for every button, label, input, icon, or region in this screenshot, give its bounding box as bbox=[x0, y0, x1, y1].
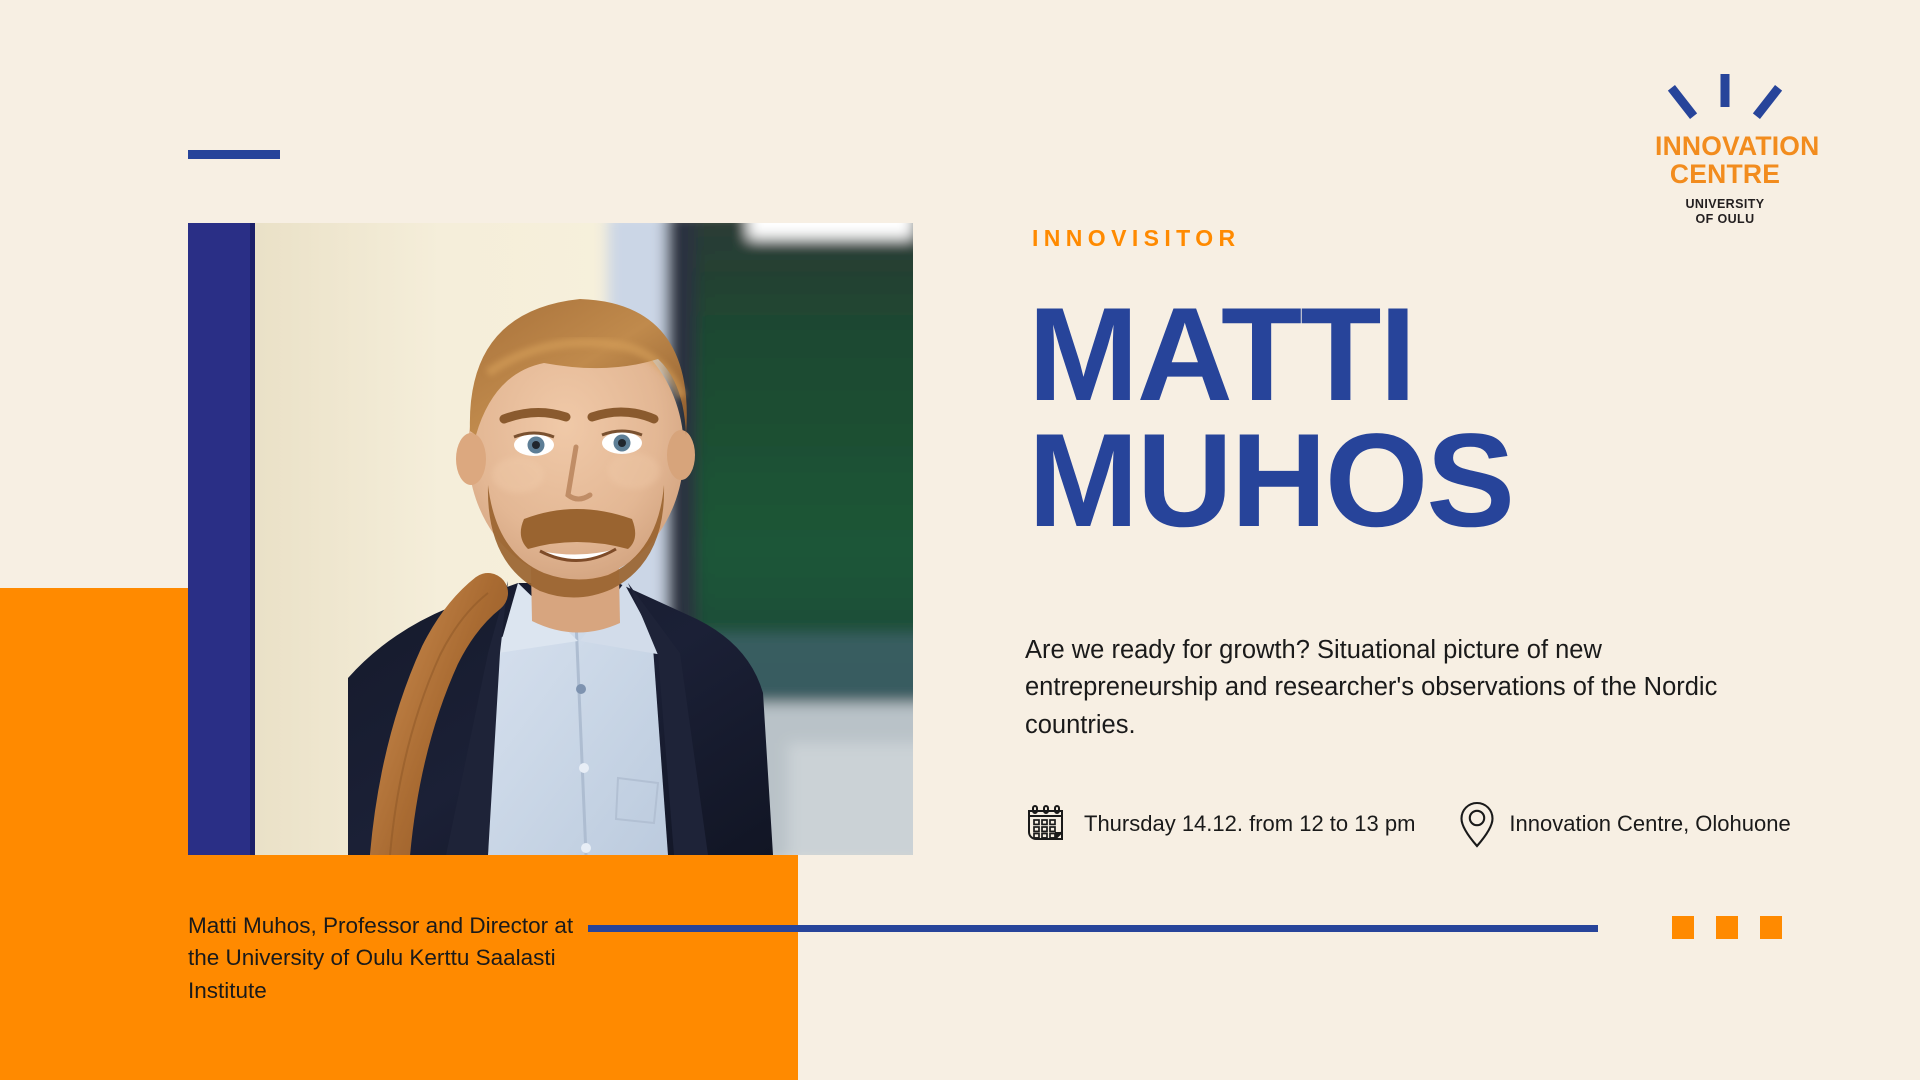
blue-dash-accent bbox=[188, 150, 280, 159]
event-poster: Matti Muhos, Professor and Director at t… bbox=[0, 0, 1920, 1080]
calendar-icon bbox=[1025, 802, 1069, 846]
orange-square bbox=[1760, 916, 1782, 939]
orange-square bbox=[1672, 916, 1694, 939]
location-pin-icon bbox=[1459, 800, 1495, 848]
logo-university-line1: UNIVERSITY bbox=[1685, 197, 1764, 211]
divider-rule bbox=[588, 925, 1598, 932]
event-description: Are we ready for growth? Situational pic… bbox=[1025, 632, 1765, 744]
logo-name-line2: CENTRE bbox=[1670, 159, 1780, 189]
logo-name-line1: INNOVATION bbox=[1655, 131, 1819, 161]
logo-university-line2: OF OULU bbox=[1695, 212, 1754, 226]
kicker-label: INNOVISITOR bbox=[1032, 225, 1241, 252]
meta-datetime-text: Thursday 14.12. from 12 to 13 pm bbox=[1084, 811, 1415, 837]
three-rays-icon bbox=[1655, 72, 1795, 128]
speaker-last-name: MUHOS bbox=[1028, 418, 1828, 544]
speaker-name: MATTI MUHOS bbox=[1028, 292, 1828, 545]
meta-item-location: Innovation Centre, Olohuone bbox=[1459, 800, 1790, 848]
logo-university: UNIVERSITY OF OULU bbox=[1655, 197, 1795, 227]
logo-name: INNOVATION CENTRE bbox=[1655, 133, 1795, 188]
meta-item-datetime: Thursday 14.12. from 12 to 13 pm bbox=[1025, 802, 1415, 846]
orange-squares-accent bbox=[1672, 916, 1782, 939]
meta-location-text: Innovation Centre, Olohuone bbox=[1509, 811, 1790, 837]
photo-caption: Matti Muhos, Professor and Director at t… bbox=[188, 910, 608, 1007]
speaker-photo bbox=[188, 223, 913, 855]
event-meta-row: Thursday 14.12. from 12 to 13 pm Innovat… bbox=[1025, 800, 1791, 848]
innovation-centre-logo: INNOVATION CENTRE UNIVERSITY OF OULU bbox=[1655, 72, 1795, 227]
orange-square bbox=[1716, 916, 1738, 939]
